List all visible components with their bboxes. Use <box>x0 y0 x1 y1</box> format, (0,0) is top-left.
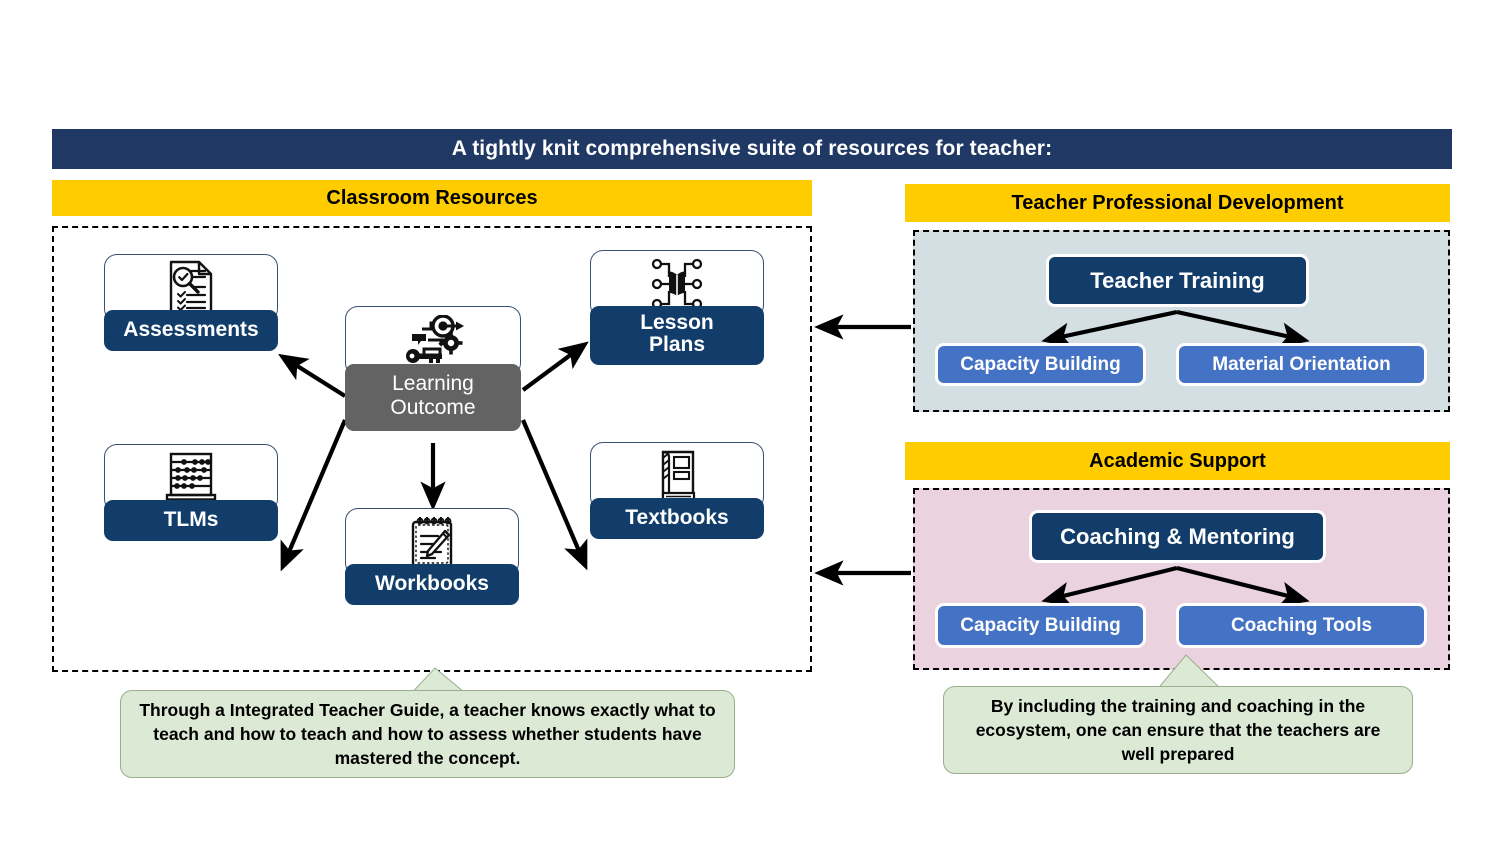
hub-label: Learning Outcome <box>345 364 521 431</box>
node-coaching-tools[interactable]: Coaching Tools <box>1176 603 1427 648</box>
node-label: Teacher Training <box>1090 268 1264 294</box>
resource-hub-learning-outcome[interactable]: Learning Outcome <box>345 306 521 431</box>
resource-card-workbooks[interactable]: Workbooks <box>345 508 519 605</box>
node-label: Coaching & Mentoring <box>1060 524 1295 550</box>
section-banner-label: Teacher Professional Development <box>1012 192 1344 215</box>
section-banner-classroom-resources: Classroom Resources <box>52 180 812 216</box>
resource-card-label: Workbooks <box>345 564 519 605</box>
node-label: Material Orientation <box>1212 354 1390 376</box>
abacus-icon <box>162 451 220 505</box>
resource-card-textbooks[interactable]: Textbooks <box>590 442 764 539</box>
node-label: Capacity Building <box>960 354 1120 376</box>
resource-card-assessments[interactable]: Assessments <box>104 254 278 351</box>
diagram-canvas: A tightly knit comprehensive suite of re… <box>0 0 1500 844</box>
section-banner-teacher-professional-development: Teacher Professional Development <box>905 184 1450 222</box>
header-title-bar: A tightly knit comprehensive suite of re… <box>52 129 1452 169</box>
hub-label-line1: Learning <box>392 372 474 396</box>
resource-card-label-line1: Lesson <box>640 311 714 334</box>
hub-label-line2: Outcome <box>390 396 475 420</box>
target-gear-key-icon <box>400 315 466 367</box>
notepad-pencil-icon <box>405 514 459 570</box>
callout-classroom-resources: Through a Integrated Teacher Guide, a te… <box>120 690 735 778</box>
callout-teacher-support: By including the training and coaching i… <box>943 686 1413 774</box>
section-banner-label: Academic Support <box>1089 450 1266 473</box>
node-teacher-training[interactable]: Teacher Training <box>1046 254 1309 307</box>
resource-card-label: TLMs <box>104 500 278 541</box>
node-label: Coaching Tools <box>1231 615 1372 637</box>
document-magnifier-checklist-icon <box>165 260 217 316</box>
callout-text: By including the training and coaching i… <box>958 694 1398 766</box>
resource-card-label: Lesson Plans <box>590 306 764 365</box>
resource-card-label: Textbooks <box>590 498 764 539</box>
resource-card-lesson-plans[interactable]: Lesson Plans <box>590 250 764 365</box>
resource-card-label-line2: Plans <box>649 333 705 356</box>
node-coaching-and-mentoring[interactable]: Coaching & Mentoring <box>1029 510 1326 563</box>
node-academic-capacity-building[interactable]: Capacity Building <box>935 603 1146 648</box>
open-book-network-icon <box>647 257 707 311</box>
section-banner-academic-support: Academic Support <box>905 442 1450 480</box>
node-label: Capacity Building <box>960 615 1120 637</box>
closed-book-icon <box>653 448 701 504</box>
resource-card-label: Assessments <box>104 310 278 351</box>
callout-text: Through a Integrated Teacher Guide, a te… <box>135 698 720 770</box>
page-title: A tightly knit comprehensive suite of re… <box>452 137 1052 161</box>
node-tpd-capacity-building[interactable]: Capacity Building <box>935 343 1146 386</box>
node-material-orientation[interactable]: Material Orientation <box>1176 343 1427 386</box>
section-banner-label: Classroom Resources <box>326 187 537 210</box>
resource-card-tlms[interactable]: TLMs <box>104 444 278 541</box>
